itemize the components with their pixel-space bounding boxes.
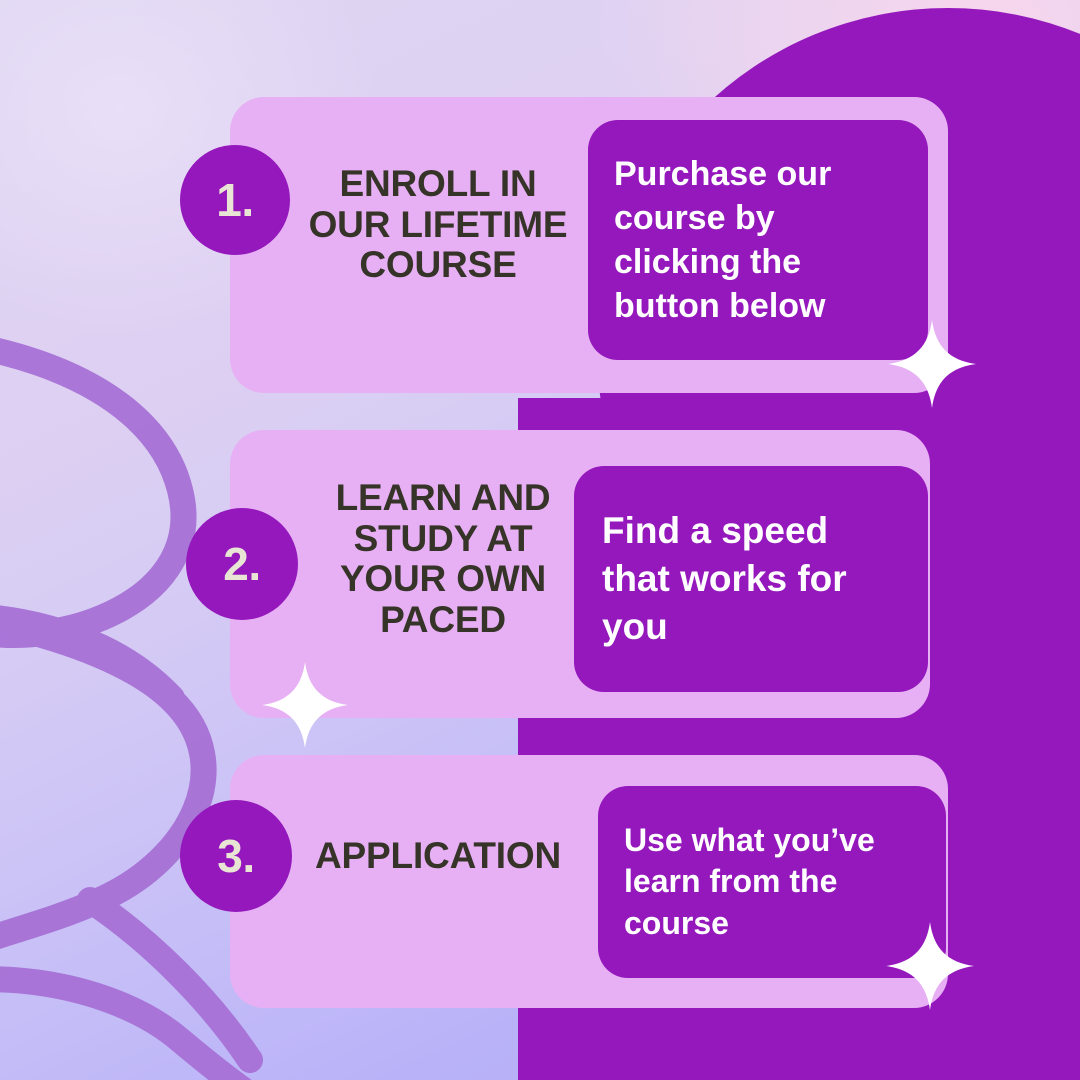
step-number-2: 2. [223,537,260,591]
step-number-badge-2: 2. [186,508,298,620]
step-title-3: APPLICATION [292,836,584,877]
step-description-1: Purchase our course by clicking the butt… [614,152,902,329]
step-title-2: LEARN AND STUDY AT YOUR OWN PACED [300,478,586,641]
step-number-3: 3. [217,829,254,883]
step-description-card-2: Find a speed that works for you [574,466,928,692]
step-description-3: Use what you’ve learn from the course [624,820,920,945]
step-number-badge-3: 3. [180,800,292,912]
step-title-1: ENROLL IN OUR LIFETIME COURSE [296,164,580,286]
step-description-2: Find a speed that works for you [602,507,900,651]
step-description-card-1: Purchase our course by clicking the butt… [588,120,928,360]
step-description-card-3: Use what you’ve learn from the course [598,786,946,978]
step-number-1: 1. [216,173,253,227]
infographic-poster: Purchase our course by clicking the butt… [0,0,1080,1080]
step-number-badge-1: 1. [180,145,290,255]
